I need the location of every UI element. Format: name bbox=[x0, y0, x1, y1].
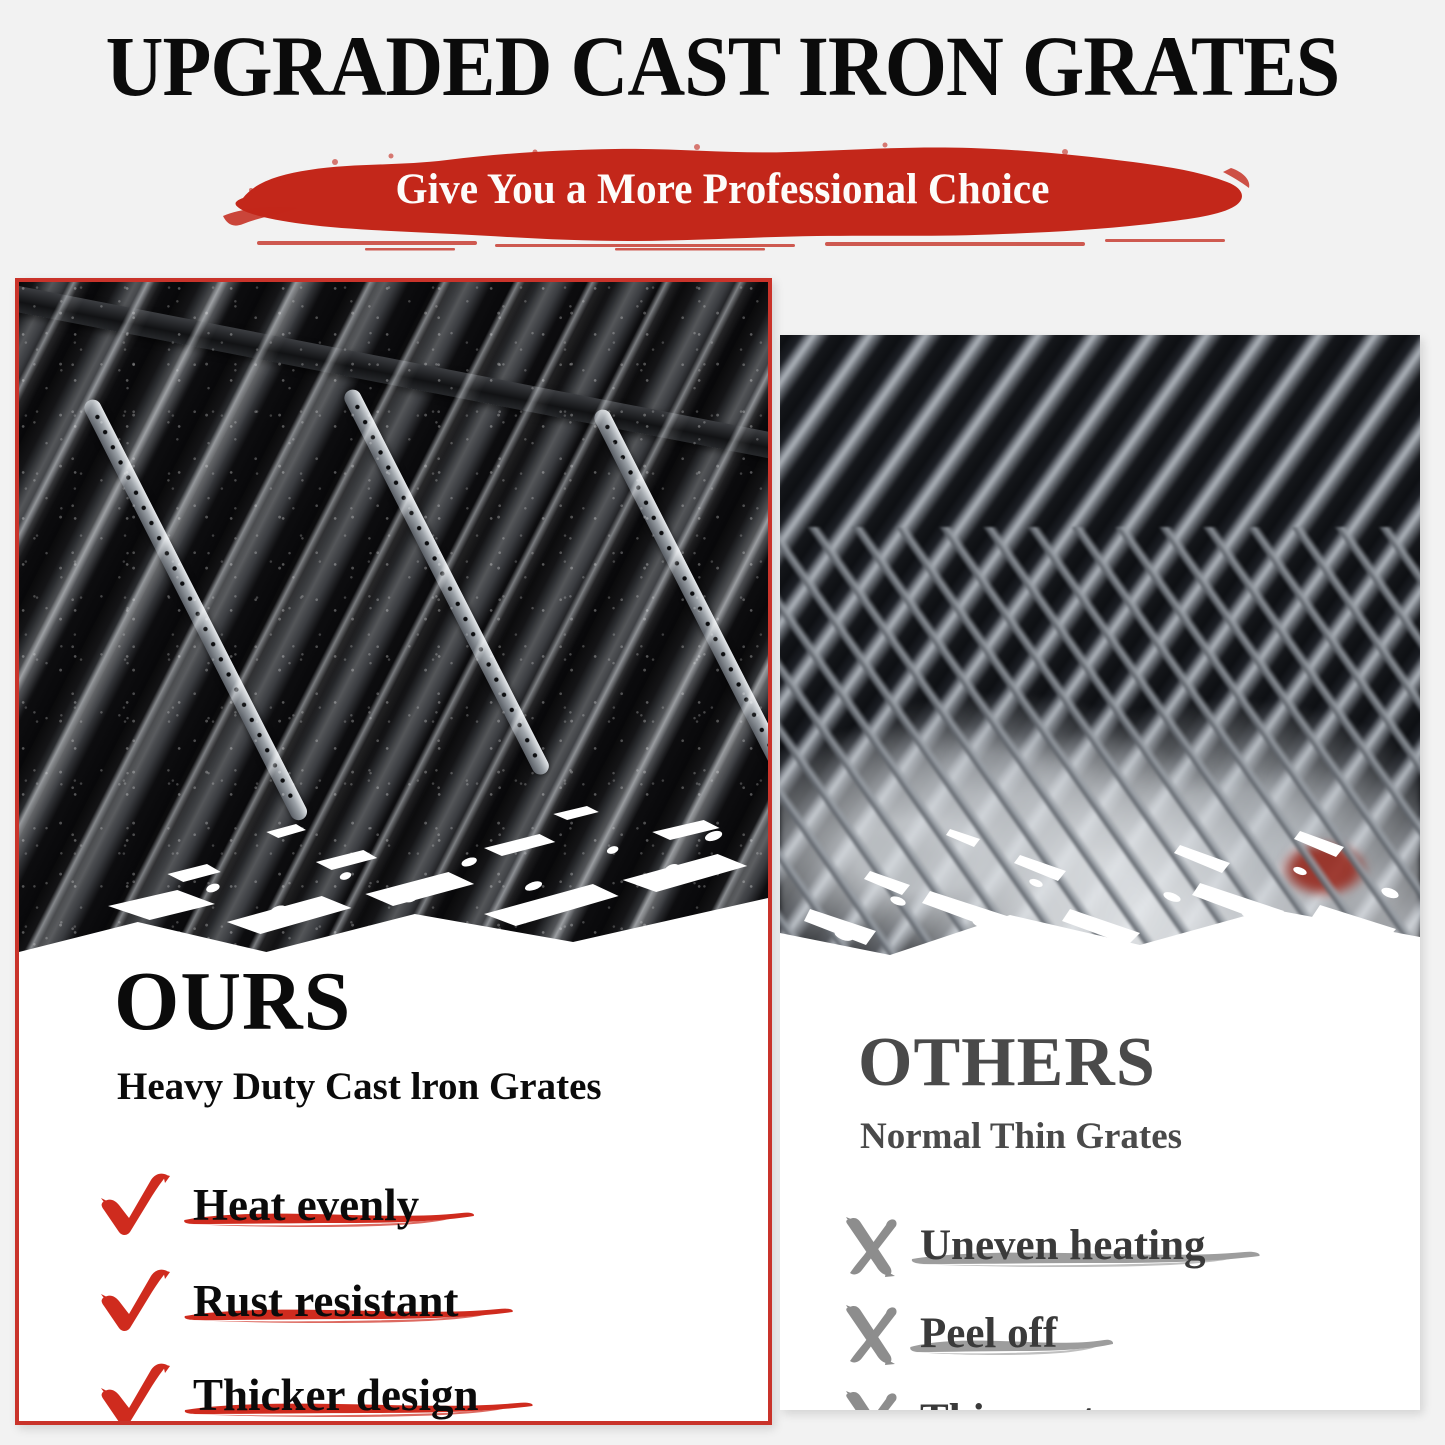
others-product-photo bbox=[780, 335, 1420, 975]
list-item: Rust resistant bbox=[99, 1268, 458, 1334]
check-mark-icon bbox=[99, 1362, 171, 1425]
ours-heading: OURS bbox=[114, 960, 351, 1044]
check-mark-icon bbox=[99, 1268, 171, 1334]
check-mark-icon bbox=[99, 1172, 171, 1238]
list-item: Uneven heating bbox=[842, 1215, 1205, 1277]
list-item: Thicker design bbox=[99, 1362, 478, 1425]
list-item-label: Uneven heating bbox=[920, 1221, 1205, 1271]
others-panel: OTHERS Normal Thin Grates Uneven heating bbox=[780, 335, 1420, 1410]
list-item: Heat evenly bbox=[99, 1172, 419, 1238]
list-item: Thin grates bbox=[842, 1389, 1131, 1410]
list-item-label: Thin grates bbox=[920, 1395, 1131, 1410]
tagline-text: Give You a More Professional Choice bbox=[207, 166, 1239, 214]
others-subtitle: Normal Thin Grates bbox=[860, 1117, 1182, 1157]
page-title: UPGRADED CAST IRON GRATES bbox=[51, 22, 1395, 110]
ours-panel: OURS Heavy Duty Cast lron Grates Heat ev… bbox=[15, 278, 772, 1425]
infographic-page: UPGRADED CAST IRON GRATES Give You a Mor… bbox=[0, 0, 1445, 1445]
ours-subtitle: Heavy Duty Cast lron Grates bbox=[117, 1066, 602, 1108]
list-item-label: Thicker design bbox=[193, 1369, 478, 1421]
list-item-label: Heat evenly bbox=[193, 1179, 419, 1231]
tagline-banner: Give You a More Professional Choice bbox=[185, 138, 1260, 253]
list-item: Peel off bbox=[842, 1303, 1057, 1365]
others-heading: OTHERS bbox=[858, 1027, 1156, 1099]
x-mark-icon bbox=[842, 1215, 900, 1277]
list-item-label: Peel off bbox=[920, 1309, 1057, 1359]
x-mark-icon bbox=[842, 1303, 900, 1365]
list-item-label: Rust resistant bbox=[193, 1275, 458, 1327]
cross-mesh-wires bbox=[780, 527, 1420, 975]
cast-iron-texture bbox=[19, 282, 768, 982]
ours-product-photo bbox=[19, 282, 768, 982]
x-mark-icon bbox=[842, 1389, 900, 1410]
